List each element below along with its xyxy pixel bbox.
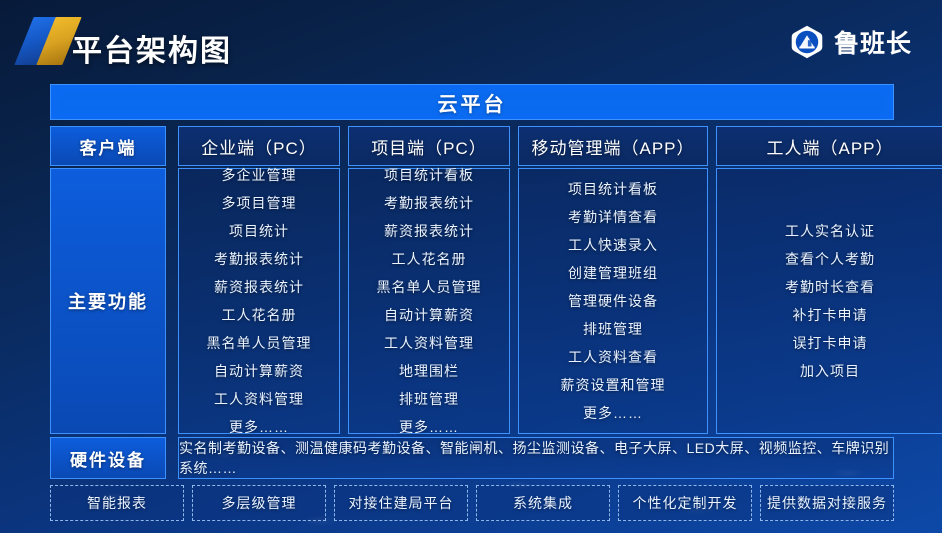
row-label-hardware: 硬件设备	[50, 437, 166, 479]
architecture-diagram-canvas: 平台架构图 鲁班长 云平台 客户端 企业端（PC） 项目端（PC） 移动管理端（…	[0, 0, 942, 533]
brand: 鲁班长	[789, 24, 912, 60]
feature-item: 工人资料管理	[384, 333, 474, 353]
row-label-features: 主要功能	[50, 168, 166, 434]
feature-item: 黑名单人员管理	[207, 333, 312, 353]
feature-item: 加入项目	[800, 361, 860, 381]
feature-column-1: 项目统计看板考勤报表统计薪资报表统计工人花名册黑名单人员管理自动计算薪资工人资料…	[348, 168, 510, 434]
cloud-platform-bar: 云平台	[50, 84, 894, 120]
feature-item: 工人花名册	[222, 305, 297, 325]
cloud-platform-label: 云平台	[438, 88, 507, 117]
brand-name: 鲁班长	[834, 24, 912, 60]
feature-item: 更多……	[229, 417, 289, 437]
feature-item: 项目统计	[229, 221, 289, 241]
hardware-list-text: 实名制考勤设备、测温健康码考勤设备、智能闸机、扬尘监测设备、电子大屏、LED大屏…	[179, 438, 893, 478]
feature-item: 工人快速录入	[568, 235, 658, 255]
feature-item: 多项目管理	[222, 193, 297, 213]
feature-item: 考勤报表统计	[214, 249, 304, 269]
feature-item: 误打卡申请	[793, 333, 868, 353]
feature-column-2: 项目统计看板考勤详情查看工人快速录入创建管理班组管理硬件设备排班管理工人资料查看…	[518, 168, 708, 434]
feature-item: 薪资报表统计	[384, 221, 474, 241]
row-label-client: 客户端	[50, 126, 166, 166]
feature-item: 查看个人考勤	[785, 249, 875, 269]
footer-chip[interactable]: 系统集成	[476, 485, 610, 521]
feature-item: 考勤报表统计	[384, 193, 474, 213]
column-header-1: 项目端（PC）	[348, 126, 510, 166]
feature-item: 工人资料管理	[214, 389, 304, 409]
footer-chip[interactable]: 对接住建局平台	[334, 485, 468, 521]
footer-chip[interactable]: 多层级管理	[192, 485, 326, 521]
lubanzhang-hexagon-building-icon	[789, 24, 825, 60]
column-header-2: 移动管理端（APP）	[518, 126, 708, 166]
page-title: 平台架构图	[72, 26, 232, 70]
feature-item: 工人资料查看	[568, 347, 658, 367]
feature-item: 排班管理	[399, 389, 459, 409]
hardware-list-box: 实名制考勤设备、测温健康码考勤设备、智能闸机、扬尘监测设备、电子大屏、LED大屏…	[178, 437, 894, 479]
footer-chip-row: 智能报表多层级管理对接住建局平台系统集成个性化定制开发提供数据对接服务	[50, 485, 894, 521]
column-header-row: 客户端 企业端（PC） 项目端（PC） 移动管理端（APP） 工人端（APP）	[50, 126, 894, 166]
feature-item: 项目统计看板	[384, 165, 474, 185]
column-header-3: 工人端（APP）	[716, 126, 942, 166]
feature-item: 创建管理班组	[568, 263, 658, 283]
features-row: 主要功能 多企业管理多项目管理项目统计考勤报表统计薪资报表统计工人花名册黑名单人…	[50, 168, 894, 434]
feature-column-0: 多企业管理多项目管理项目统计考勤报表统计薪资报表统计工人花名册黑名单人员管理自动…	[178, 168, 340, 434]
feature-item: 考勤详情查看	[568, 207, 658, 227]
feature-item: 薪资设置和管理	[561, 375, 666, 395]
footer-chip[interactable]: 个性化定制开发	[618, 485, 752, 521]
column-header-0: 企业端（PC）	[178, 126, 340, 166]
feature-item: 补打卡申请	[793, 305, 868, 325]
feature-item: 黑名单人员管理	[377, 277, 482, 297]
feature-item: 自动计算薪资	[384, 305, 474, 325]
feature-item: 薪资报表统计	[214, 277, 304, 297]
feature-item: 更多……	[399, 417, 459, 437]
feature-item: 工人花名册	[392, 249, 467, 269]
footer-chip[interactable]: 智能报表	[50, 485, 184, 521]
feature-item: 排班管理	[583, 319, 643, 339]
feature-item: 考勤时长查看	[785, 277, 875, 297]
footer-chip[interactable]: 提供数据对接服务	[760, 485, 894, 521]
feature-item: 自动计算薪资	[214, 361, 304, 381]
feature-column-3: 工人实名认证查看个人考勤考勤时长查看补打卡申请误打卡申请加入项目	[716, 168, 942, 434]
header: 平台架构图 鲁班长	[0, 0, 942, 82]
feature-item: 地理围栏	[399, 361, 459, 381]
hardware-row: 硬件设备 实名制考勤设备、测温健康码考勤设备、智能闸机、扬尘监测设备、电子大屏、…	[50, 437, 894, 479]
feature-item: 更多……	[583, 403, 643, 423]
feature-item: 多企业管理	[222, 165, 297, 185]
feature-item: 项目统计看板	[568, 179, 658, 199]
feature-item: 管理硬件设备	[568, 291, 658, 311]
double-slash-logo-icon	[18, 17, 78, 65]
feature-item: 工人实名认证	[785, 221, 875, 241]
